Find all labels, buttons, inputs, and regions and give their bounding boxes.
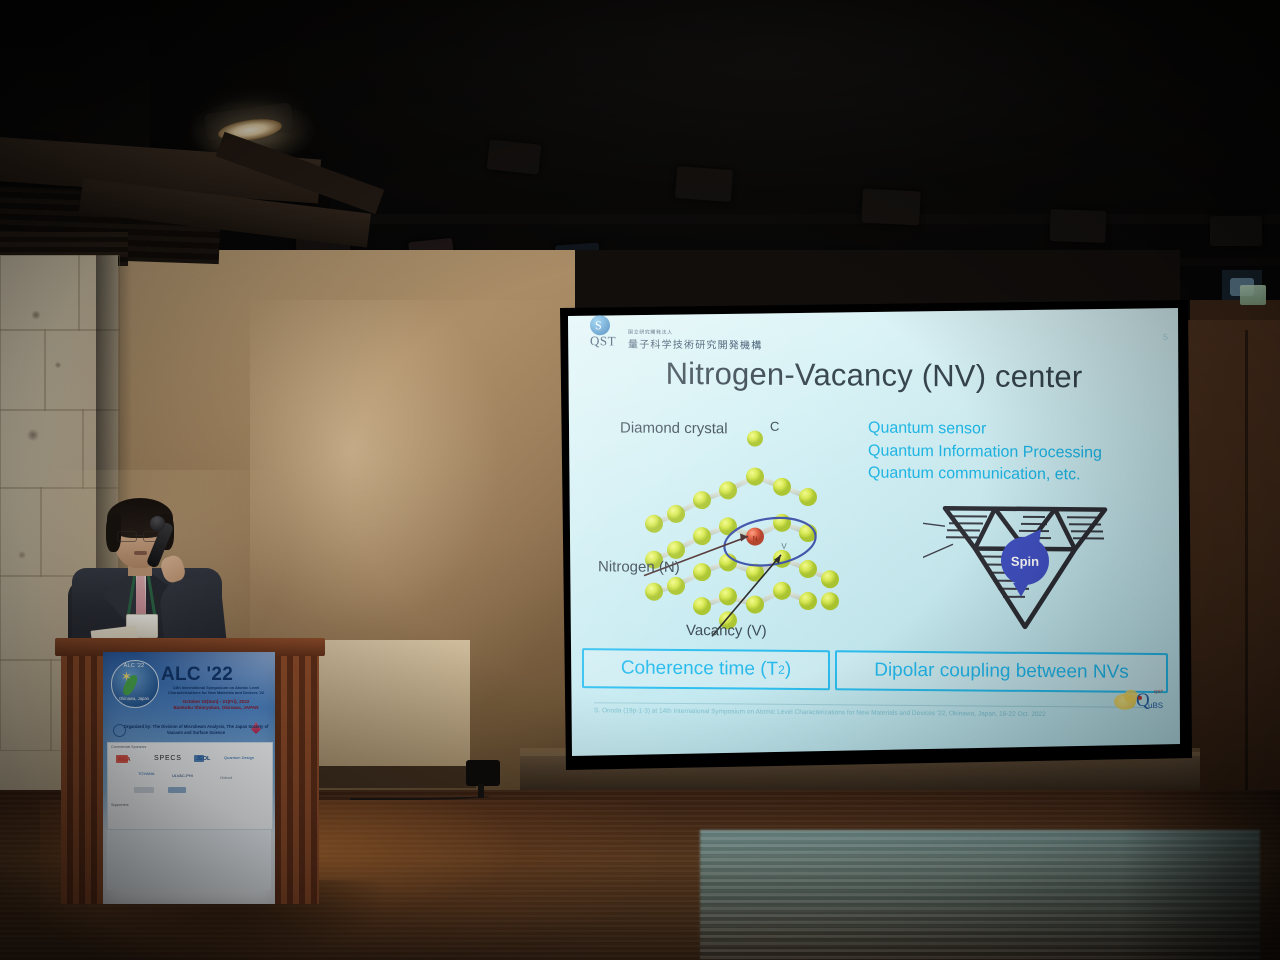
sponsor-logo: Oxford: [220, 775, 232, 780]
slide-title: Nitrogen-Vacancy (NV) center: [568, 355, 1180, 396]
dipolar-coupling-box: Dipolar coupling between NVs: [835, 650, 1168, 693]
spotlight-fixture: [1210, 216, 1262, 246]
qst-globe-letter: S: [595, 318, 606, 332]
spotlight-fixture: [487, 139, 542, 174]
qubs-dot-icon: [1138, 696, 1142, 700]
spotlight-fixture: [1049, 209, 1106, 243]
sponsor-panel: Commercial Sponsors RIGA SPECS JEOL Quan…: [107, 742, 273, 830]
vacancy-label: Vacancy (V): [686, 622, 767, 640]
spotlight-fixture: [861, 189, 921, 226]
sponsor-panel-lower: [107, 830, 271, 890]
banner-dates-venue: October 16(Sun) - 21(Fri), 2022 Bankoku …: [159, 699, 273, 712]
spin-label: Spin: [1011, 554, 1039, 569]
glasses-icon: [117, 531, 137, 542]
sponsor-mark: [134, 787, 154, 793]
podium: ✶ ALC '22 Okinawa, Japan ALC '22 14th In…: [55, 638, 325, 908]
banner-title: ALC '22: [161, 664, 271, 686]
stone-block: [0, 329, 46, 411]
qst-logo: S QST 国立研究開発法人 量子科学技術研究開発機構: [590, 315, 800, 347]
stone-block: [0, 255, 80, 331]
wall-seam: [1245, 330, 1248, 850]
star-icon: ✶: [121, 670, 135, 684]
sponsor-logo: SPECS: [154, 755, 182, 762]
nitrogen-label: Nitrogen (N): [598, 558, 680, 576]
presentation-slide: S QST 国立研究開発法人 量子科学技術研究開発機構 5 Nitrogen-V…: [568, 303, 1180, 756]
nitrogen-atom-label: N: [752, 536, 757, 543]
coherence-time-subscript: 2: [778, 663, 785, 677]
emblem-top-text: ALC '22: [115, 663, 153, 669]
sponsor-mark: [194, 755, 204, 762]
exit-sign-icon: [1240, 285, 1266, 305]
dipolar-coupling-text: Dipolar coupling between NVs: [874, 660, 1129, 684]
wall-panel-light: [300, 640, 470, 780]
presenter-mouth: [134, 551, 147, 555]
slide-footer-citation: S. Onoda (19p-1-3) at 14th International…: [594, 707, 1166, 719]
application-item: Quantum sensor: [868, 418, 1102, 443]
diamond-crystal-label: Diamond crystal: [620, 419, 728, 437]
floor-shadow-right: [1120, 790, 1280, 960]
applications-list: Quantum sensor Quantum Information Proce…: [868, 418, 1102, 488]
sponsor-heading: Commercial Sponsors: [111, 745, 146, 749]
gem-leader-line-bottom: [923, 544, 953, 585]
qubs-tiny-text: QST: [1154, 689, 1163, 694]
emblem-bottom-text: Okinawa, Japan: [113, 696, 155, 701]
sponsor-mark: [116, 755, 128, 763]
coherence-time-tail: ): [785, 659, 791, 681]
coherence-time-text: Coherence time (T: [621, 657, 778, 680]
diamond-lattice-diagram: N V: [624, 423, 874, 640]
conference-hall-photo: S QST 国立研究開発法人 量子科学技術研究開発機構 5 Nitrogen-V…: [0, 0, 1280, 960]
podium-side-slats-left: [61, 654, 107, 904]
banner-venue: Bankoku Shinryokan, Okinawa, JAPAN: [159, 705, 273, 711]
banner-subtitle: 14th International Symposium on Atomic L…: [159, 685, 273, 696]
coherence-time-box: Coherence time (T2): [582, 648, 830, 690]
application-item: Quantum communication, etc.: [868, 463, 1102, 488]
banner-organizer: Organized by: The Division of Microbeam …: [121, 724, 271, 736]
qubs-text: uBS: [1148, 701, 1163, 710]
glasses-bridge: [135, 535, 143, 536]
qst-jp-name: 量子科学技術研究開発機構: [628, 336, 762, 352]
gem-leader-line-top: [923, 516, 945, 527]
sponsor-logo: ULVAC-PHI: [172, 773, 193, 778]
stone-block: [0, 487, 42, 577]
highlight-box-row: Coherence time (T2) Dipolar coupling bet…: [582, 648, 1168, 693]
qst-acronym: QST: [590, 333, 616, 349]
sponsor-logo: Quantum Design: [224, 755, 254, 760]
sponsor-mark: [168, 787, 186, 793]
carbon-label: C: [770, 419, 779, 434]
presenter: [58, 498, 268, 658]
floor-monitor-speaker: [466, 760, 500, 786]
application-item: Quantum Information Processing: [868, 440, 1102, 465]
sponsor-logo: TOYAMA: [138, 771, 155, 776]
podium-side-slats-right: [269, 654, 319, 904]
diamond-gem-diagram: Spin: [923, 486, 1128, 638]
spotlight-fixture: [675, 166, 733, 202]
qubs-logo: Q uBS QST: [1114, 690, 1170, 714]
slide-number: 5: [1163, 332, 1168, 342]
vacancy-atom-label: V: [781, 542, 787, 551]
supporters-heading: Supporters: [111, 803, 129, 807]
